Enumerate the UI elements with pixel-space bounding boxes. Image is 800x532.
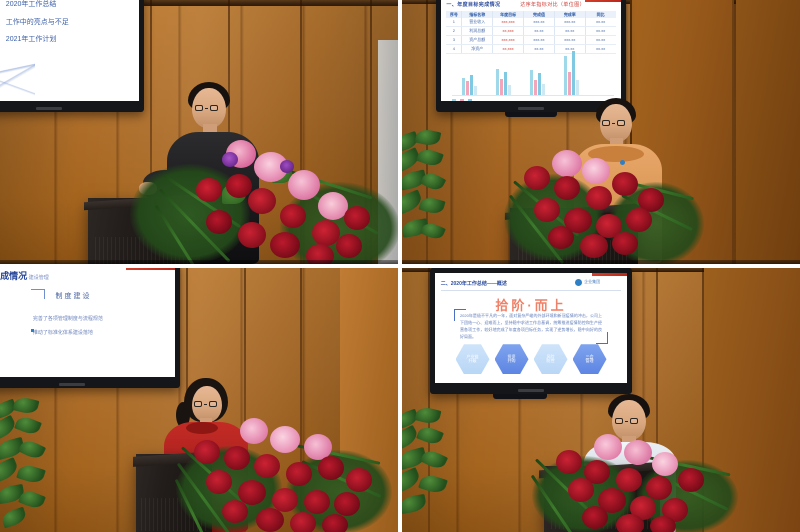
td: 1 <box>446 18 462 26</box>
potted-plant <box>0 398 54 532</box>
td: 利润总额 <box>462 27 493 35</box>
decor-bracket <box>31 289 45 299</box>
slide-surface: 年度目标完成情况 2020年工作总结 工作中的亮点与不足 2021年工作计划 <box>0 0 139 101</box>
slide-paragraph: 2020年是极不平凡的一年，面对复杂严峻的外部环境和新冠疫情的冲击，公司上下团结… <box>460 312 602 340</box>
td: xx.xx <box>586 18 616 26</box>
td: xx,xxx <box>493 27 524 35</box>
th-4: 完成率 <box>555 11 586 18</box>
td: 营业收入 <box>462 18 493 26</box>
panel-bottom-shadow <box>402 260 800 264</box>
legend-item <box>452 99 456 101</box>
bar-group-4 <box>564 51 579 95</box>
flower-bouquet <box>176 416 392 532</box>
slide-bullet-2: 推动了标准化体系建设落地 <box>33 329 93 336</box>
td: xxx.xx <box>524 36 555 44</box>
td: xxx,xxx <box>493 36 524 44</box>
panel-bottom-shadow <box>0 260 398 264</box>
display-screen-bottom-left: 工作完成情况·建设管理 制度建设 完善了各项管理制度与流程规范 推动了标准化体系… <box>0 268 180 388</box>
display-screen-top-right: 一、年度目标完成情况 达序年指标对比（单位图） 序号 指标名称 年度目标 完成值… <box>436 0 626 112</box>
glasses-icon <box>602 120 625 126</box>
chart-baseline <box>452 95 614 96</box>
td: xx.xx <box>524 27 555 35</box>
agenda-item-2: 2020年工作总结 <box>6 0 57 9</box>
potted-plant <box>402 408 454 532</box>
tv-brand-logo <box>518 107 544 110</box>
photo-panel-top-left: 年度目标完成情况 2020年工作总结 工作中的亮点与不足 2021年工作计划 <box>0 0 398 264</box>
th-1: 指标名称 <box>462 11 493 18</box>
potted-plant <box>402 128 452 264</box>
legend-item <box>460 99 464 101</box>
slide-heading: 制度建设 <box>56 291 92 301</box>
tv-brand-logo <box>36 107 62 110</box>
slide-accent-bar <box>126 268 175 270</box>
slide-surface: 一、年度目标完成情况 达序年指标对比（单位图） 序号 指标名称 年度目标 完成值… <box>441 0 621 101</box>
flower-bouquet <box>130 126 390 264</box>
bar-group-3 <box>530 70 545 95</box>
photo-panel-bottom-right: 二、2020年工作总结——概述 企业集团 拾阶·而上 2020年是极不平凡的一年… <box>402 268 800 532</box>
display-screen-bottom-right: 二、2020年工作总结——概述 企业集团 拾阶·而上 2020年是极不平凡的一年… <box>430 268 632 394</box>
bar-group-1 <box>462 75 477 95</box>
chart-legend <box>452 99 472 101</box>
td: 2 <box>446 27 462 35</box>
hexagon-3[interactable]: 风险 防控 <box>534 344 568 374</box>
th-0: 序号 <box>446 11 462 18</box>
td: xx.xx <box>586 36 616 44</box>
flower-bouquet <box>504 146 704 264</box>
agenda-item-4: 2021年工作计划 <box>6 34 57 44</box>
flower-bouquet <box>532 434 738 532</box>
display-screen-top-left: 年度目标完成情况 2020年工作总结 工作中的亮点与不足 2021年工作计划 <box>0 0 144 112</box>
slide-title-suffix: ·建设管理 <box>27 275 49 281</box>
bar-group-2 <box>496 69 511 95</box>
table-row: 2 利润总额 xx,xxx xx.xx xx.xx xx.xx <box>446 27 615 36</box>
bar-chart <box>452 46 614 96</box>
glasses-icon <box>195 105 218 111</box>
city-skyline-watermark <box>0 41 35 101</box>
td: 资产总额 <box>462 36 493 44</box>
photo-collage: 年度目标完成情况 2020年工作总结 工作中的亮点与不足 2021年工作计划 <box>0 0 800 532</box>
td: xxx,xxx <box>493 18 524 26</box>
tv-stand <box>505 112 557 117</box>
slide-accent-bar <box>585 0 621 2</box>
tv-stand <box>493 394 547 399</box>
wall-right-edge <box>736 0 800 264</box>
th-2: 年度目标 <box>493 11 524 18</box>
hexagon-1[interactable]: 产业链 升级 <box>456 344 490 374</box>
td: xxx.xx <box>524 18 555 26</box>
presentation-slide-agenda: 年度目标完成情况 2020年工作总结 工作中的亮点与不足 2021年工作计划 <box>0 0 139 101</box>
hexagon-row: 产业链 升级 投资 并购 风险 防控 三会 管理 <box>454 344 608 374</box>
hexagon-2[interactable]: 投资 并购 <box>495 344 529 374</box>
logo-mark-icon <box>575 279 582 286</box>
slide-heading-sub: 达序年指标对比（单位图） <box>520 1 585 8</box>
slide-heading: 一、年度目标完成情况 <box>446 1 500 8</box>
table-row: 1 营业收入 xxx,xxx xxx.xx xxx.xx xx.xx <box>446 18 615 27</box>
td: 3 <box>446 36 462 44</box>
slide-heading: 二、2020年工作总结——概述 <box>441 280 507 287</box>
logo-text: 企业集团 <box>584 279 600 285</box>
legend-item <box>468 99 472 101</box>
td: xx.xx <box>555 27 586 35</box>
th-3: 完成值 <box>524 11 555 18</box>
photo-panel-top-right: 一、年度目标完成情况 达序年指标对比（单位图） 序号 指标名称 年度目标 完成值… <box>402 0 800 264</box>
tv-brand-logo <box>59 383 85 386</box>
photo-panel-bottom-left: 工作完成情况·建设管理 制度建设 完善了各项管理制度与流程规范 推动了标准化体系… <box>0 268 398 532</box>
agenda-item-3: 工作中的亮点与不足 <box>6 17 69 27</box>
glasses-icon <box>615 418 638 424</box>
glasses-icon <box>194 401 217 407</box>
table-header-row: 序号 指标名称 年度目标 完成值 完成率 同比 <box>446 11 615 18</box>
bullet-marker <box>31 329 34 332</box>
td: xxx.xx <box>555 36 586 44</box>
presentation-slide-section: 工作完成情况·建设管理 制度建设 完善了各项管理制度与流程规范 推动了标准化体系… <box>0 268 175 377</box>
th-5: 同比 <box>586 11 616 18</box>
presentation-slide-overview: 二、2020年工作总结——概述 企业集团 拾阶·而上 2020年是极不平凡的一年… <box>435 273 627 383</box>
presentation-slide-table: 一、年度目标完成情况 达序年指标对比（单位图） 序号 指标名称 年度目标 完成值… <box>441 0 621 101</box>
slide-title: 工作完成情况·建设管理 <box>0 269 49 282</box>
hexagon-4[interactable]: 三会 管理 <box>573 344 607 374</box>
slide-title-main: 工作完成情况 <box>0 271 27 281</box>
slide-surface: 二、2020年工作总结——概述 企业集团 拾阶·而上 2020年是极不平凡的一年… <box>435 273 627 383</box>
slide-surface: 工作完成情况·建设管理 制度建设 完善了各项管理制度与流程规范 推动了标准化体系… <box>0 268 175 377</box>
slide-divider <box>441 290 622 291</box>
td: xx.xx <box>586 27 616 35</box>
tv-brand-logo <box>518 389 544 392</box>
slide-accent-bar <box>592 273 627 276</box>
td: xxx.xx <box>555 18 586 26</box>
company-logo: 企业集团 <box>575 279 600 286</box>
table-row: 3 资产总额 xxx,xxx xxx.xx xxx.xx xx.xx <box>446 36 615 45</box>
slide-bullet-1: 完善了各项管理制度与流程规范 <box>33 315 103 322</box>
